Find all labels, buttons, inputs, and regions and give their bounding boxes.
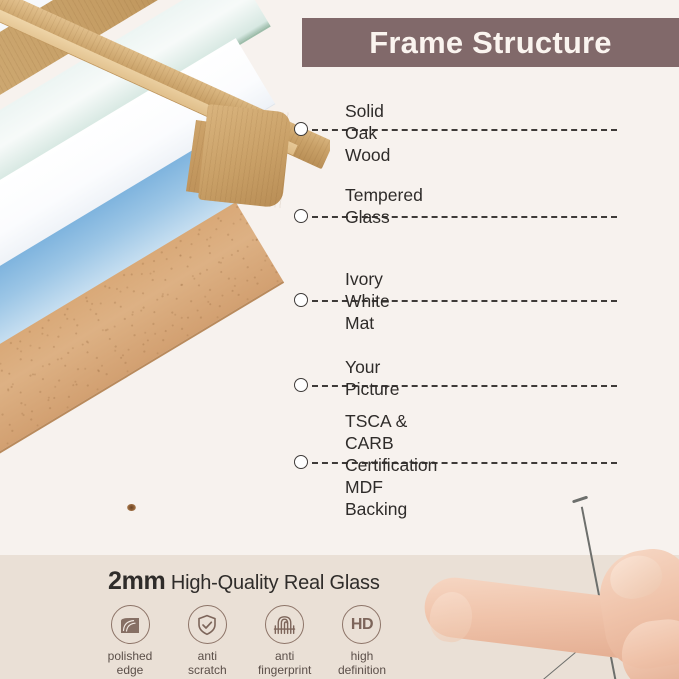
callout-label: Ivory White Mat bbox=[345, 268, 390, 334]
feature-badge-list: polished edge anti scratch bbox=[96, 605, 396, 677]
glass-thickness: 2mm bbox=[108, 567, 165, 595]
feature-caption: high definition bbox=[338, 649, 386, 677]
callout-dot bbox=[294, 293, 308, 307]
page-title: Frame Structure bbox=[369, 25, 611, 61]
callout-dot bbox=[294, 455, 308, 469]
mdf-knot-mark bbox=[127, 504, 136, 511]
feature-caption: anti scratch bbox=[188, 649, 227, 677]
callout-label: Tempered Glass bbox=[345, 184, 423, 228]
feature-caption: anti fingerprint bbox=[258, 649, 311, 677]
callout-label: Solid Oak Wood bbox=[345, 100, 390, 166]
wood-grain-texture bbox=[198, 104, 292, 208]
callout-dot bbox=[294, 378, 308, 392]
feature-caption: polished edge bbox=[108, 649, 153, 677]
glass-pane-corner-tip bbox=[572, 496, 588, 503]
oak-frame-corner bbox=[198, 104, 292, 208]
callout-dot bbox=[294, 122, 308, 136]
product-infographic: Frame Structure Solid Oak WoodTempered G… bbox=[0, 0, 679, 679]
feature-anti-fingerprint: anti fingerprint bbox=[251, 605, 319, 677]
polished-edge-icon bbox=[111, 605, 150, 644]
callout-label: Your Picture bbox=[345, 356, 399, 400]
hand-holding-glass-photo bbox=[386, 470, 679, 679]
hd-badge-label: HD bbox=[351, 616, 373, 634]
glass-headline: 2mm High-Quality Real Glass bbox=[108, 567, 380, 596]
glass-description: High-Quality Real Glass bbox=[171, 572, 380, 594]
header-title-band: Frame Structure bbox=[302, 18, 679, 67]
callout-dot bbox=[294, 209, 308, 223]
frame-exploded-photo bbox=[0, 0, 330, 560]
hd-badge-icon: HD bbox=[342, 605, 381, 644]
shield-check-icon bbox=[188, 605, 227, 644]
feature-anti-scratch: anti scratch bbox=[173, 605, 241, 677]
fingerprint-icon bbox=[265, 605, 304, 644]
feature-polished-edge: polished edge bbox=[96, 605, 164, 677]
